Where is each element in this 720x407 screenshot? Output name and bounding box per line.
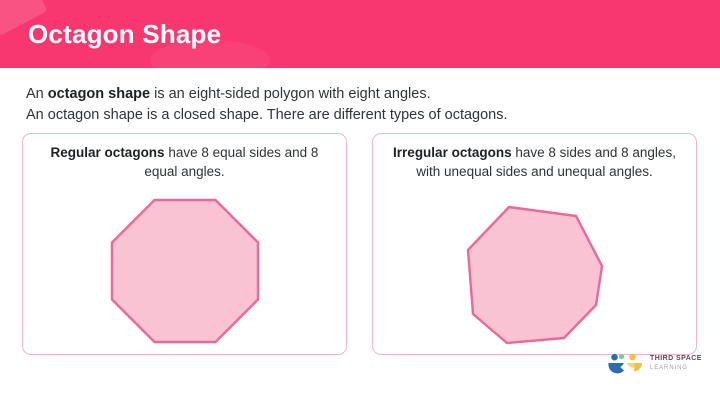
card-left-caption: Regular octagons have 8 equal sides and …	[35, 143, 334, 181]
card-right-caption-bold: Irregular octagons	[393, 145, 512, 160]
logo-line-2: LEARNING	[650, 364, 702, 373]
intro-line-1-suffix: is an eight-sided polygon with eight ang…	[150, 86, 431, 102]
regular-octagon-icon	[110, 198, 260, 344]
intro-line-2: An octagon shape is a closed shape. Ther…	[26, 105, 696, 126]
card-irregular-octagon: Irregular octagons have 8 sides and 8 an…	[372, 133, 697, 355]
intro-line-1-bold: octagon shape	[48, 86, 150, 102]
logo-wordmark: THIRD SPACE LEARNING	[650, 354, 702, 373]
intro-line-1-prefix: An	[26, 86, 48, 102]
intro-paragraph: An octagon shape is an eight-sided polyg…	[26, 84, 696, 126]
intro-line-1: An octagon shape is an eight-sided polyg…	[26, 84, 696, 105]
card-left-caption-bold: Regular octagons	[51, 145, 165, 160]
card-left-shape-area	[23, 186, 346, 354]
header-bar: Octagon Shape	[0, 0, 720, 68]
third-space-learning-mark-icon	[606, 353, 646, 377]
logo-line-1: THIRD SPACE	[650, 354, 702, 363]
card-regular-octagon: Regular octagons have 8 equal sides and …	[22, 133, 347, 355]
card-right-caption: Irregular octagons have 8 sides and 8 an…	[385, 143, 684, 181]
brand-logo: THIRD SPACE LEARNING	[606, 352, 706, 384]
card-left-caption-rest: have 8 equal sides and 8 equal angles.	[144, 145, 318, 179]
page-title: Octagon Shape	[28, 18, 221, 50]
irregular-octagon-icon	[465, 204, 605, 346]
card-right-shape-area	[373, 186, 696, 354]
